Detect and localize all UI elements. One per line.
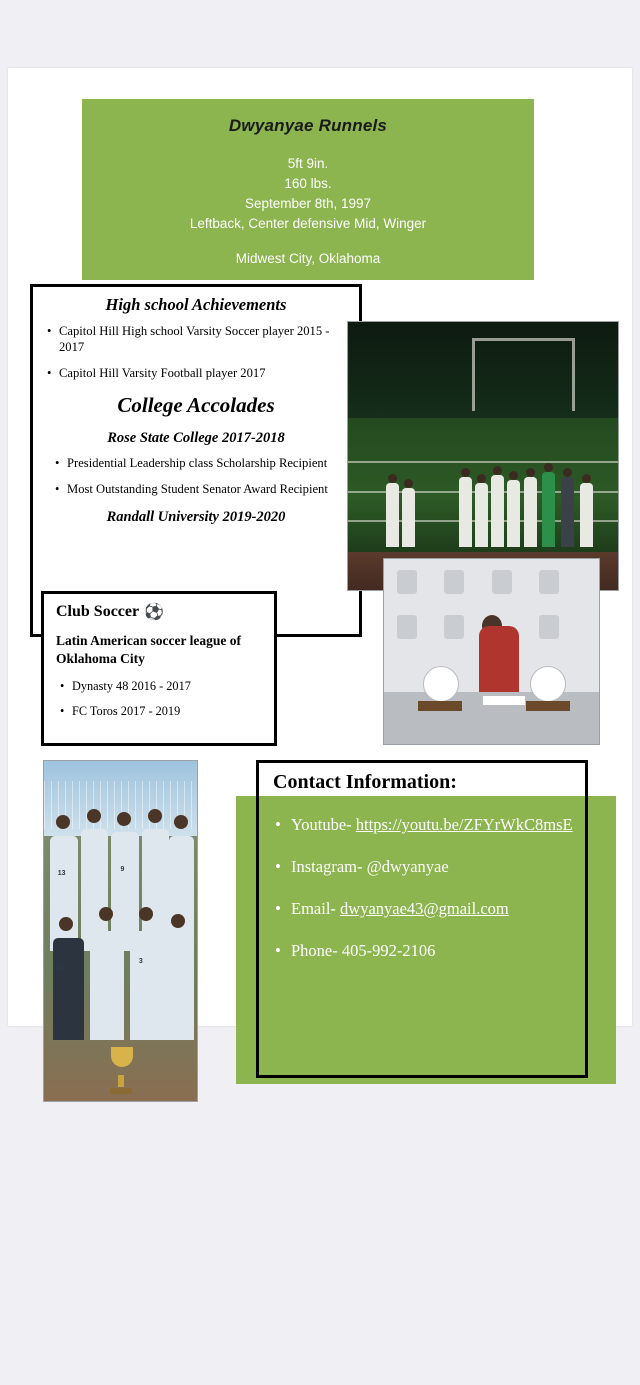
backdrop-logo-icon [444, 570, 464, 594]
hs-achievement-2: Capitol Hill Varsity Football player 201… [59, 365, 351, 381]
list-item: • Capitol Hill Varsity Football player 2… [47, 365, 351, 381]
player-figure-kneeling [90, 931, 124, 1040]
person-in-red-polo [479, 626, 519, 696]
player-head [87, 809, 101, 823]
youtube-link[interactable]: https://youtu.be/ZFYrWkC8msE [356, 815, 573, 834]
soccer-ball-trophy-left [423, 666, 459, 702]
document-sheet: Dwyanyae Runnels 5ft 9in. 160 lbs. Septe… [8, 68, 632, 1026]
bullet-icon: • [60, 703, 72, 719]
list-item: • FC Toros 2017 - 2019 [60, 703, 264, 719]
bullet-icon: • [275, 814, 291, 836]
jersey-number: 3 [139, 958, 143, 965]
instagram-label: Instagram- [291, 857, 367, 876]
player-figure [50, 836, 78, 952]
phone-number: 405-992-2106 [342, 941, 436, 960]
player-positions: Leftback, Center defensive Mid, Winger [82, 214, 534, 234]
contact-row-phone: • Phone- 405-992-2106 [275, 940, 573, 962]
randall-university-heading: Randall University 2019-2020 [41, 509, 351, 526]
trophy-base-right [526, 701, 570, 711]
club-league-name: Latin American soccer league of Oklahoma… [56, 632, 264, 668]
trophy-base [110, 1088, 132, 1094]
player-birthdate: September 8th, 1997 [82, 194, 534, 214]
team-group-photo: 13 9 20 3 [43, 760, 198, 1102]
email-label: Email- [291, 899, 340, 918]
player-head [171, 914, 185, 928]
instagram-handle: @dwyanyae [367, 857, 449, 876]
player-height: 5ft 9in. [82, 154, 534, 174]
contact-information-box: Contact Information: • Youtube- https://… [256, 760, 588, 1078]
player-head [477, 474, 486, 483]
backdrop-logo-icon [539, 615, 559, 639]
backdrop-logo-icon [539, 570, 559, 594]
hs-achievement-1: Capitol Hill High school Varsity Soccer … [59, 323, 351, 355]
page-background: Dwyanyae Runnels 5ft 9in. 160 lbs. Septe… [0, 0, 640, 1385]
list-item: • Dynasty 48 2016 - 2017 [60, 678, 264, 694]
player-figure [169, 836, 193, 952]
player-head [139, 907, 153, 921]
player-figure-kneeling [163, 938, 194, 1040]
trophy-stem [118, 1075, 124, 1087]
college-accolade-1: Presidential Leadership class Scholarshi… [67, 455, 351, 471]
bullet-icon: • [275, 856, 291, 878]
contact-row-youtube: • Youtube- https://youtu.be/ZFYrWkC8msE [275, 814, 573, 836]
player-figure [580, 483, 593, 547]
player-figure [475, 483, 488, 547]
player-head [493, 466, 502, 475]
list-item: • Presidential Leadership class Scholars… [55, 455, 351, 471]
player-figure-dark [561, 477, 574, 547]
player-figure [507, 480, 520, 547]
club-soccer-title-row: Club Soccer ⚽ [56, 602, 264, 622]
player-head [526, 468, 535, 477]
email-link[interactable]: dwyanyae43@gmail.com [340, 899, 509, 918]
player-head [388, 474, 397, 483]
goalkeeper-figure [542, 472, 555, 547]
signing-day-photo [383, 558, 600, 745]
player-figure [459, 477, 472, 547]
bullet-icon: • [47, 365, 59, 381]
bullet-icon: • [275, 898, 291, 920]
signing-paper [483, 696, 525, 705]
college-accolades-title: College Accolades [41, 393, 351, 418]
contact-title: Contact Information: [273, 771, 573, 794]
player-figure [491, 475, 504, 547]
phone-label: Phone- [291, 941, 342, 960]
bullet-icon: • [60, 678, 72, 694]
field-line [348, 461, 618, 463]
player-figure [524, 477, 537, 547]
trophy-base-left [418, 701, 462, 711]
bullet-icon: • [47, 323, 59, 355]
achievements-box: High school Achievements • Capitol Hill … [30, 284, 362, 637]
club-team-1: Dynasty 48 2016 - 2017 [72, 678, 191, 694]
club-soccer-box: Club Soccer ⚽ Latin American soccer leag… [41, 591, 277, 746]
player-figure-kneeling [53, 938, 84, 1040]
player-name: Dwyanyae Runnels [82, 116, 534, 136]
bullet-icon: • [55, 455, 67, 471]
bullet-icon: • [275, 940, 291, 962]
player-figure-kneeling [130, 931, 164, 1040]
jersey-number: 9 [121, 866, 125, 873]
youtube-label: Youtube- [291, 815, 356, 834]
player-figure [386, 483, 399, 547]
high-school-achievements-title: High school Achievements [41, 295, 351, 315]
bullet-icon: • [55, 481, 67, 497]
rose-state-heading: Rose State College 2017-2018 [41, 430, 351, 447]
backdrop-logo-icon [492, 570, 512, 594]
contact-row-instagram: • Instagram- @dwyanyae [275, 856, 573, 878]
list-item: • Most Outstanding Student Senator Award… [55, 481, 351, 497]
player-weight: 160 lbs. [82, 174, 534, 194]
backdrop-logo-icon [444, 615, 464, 639]
backdrop-logo-icon [397, 570, 417, 594]
list-item: • Capitol Hill High school Varsity Socce… [47, 323, 351, 355]
jersey-number: 20 [56, 965, 64, 972]
backdrop-logo-icon [397, 615, 417, 639]
player-hometown: Midwest City, Oklahoma [82, 249, 534, 269]
player-head [148, 809, 162, 823]
club-team-2: FC Toros 2017 - 2019 [72, 703, 180, 719]
contact-row-email: • Email- dwyanyae43@gmail.com [275, 898, 573, 920]
goal-frame [472, 338, 575, 411]
club-soccer-title: Club Soccer [56, 603, 139, 621]
player-head [582, 474, 591, 483]
profile-header-box: Dwyanyae Runnels 5ft 9in. 160 lbs. Septe… [82, 99, 534, 280]
soccer-ball-icon: ⚽ [144, 602, 164, 622]
player-figure [402, 488, 415, 547]
college-accolade-2: Most Outstanding Student Senator Award R… [67, 481, 351, 497]
jersey-number: 13 [58, 870, 66, 877]
team-celebration-photo [347, 321, 619, 591]
